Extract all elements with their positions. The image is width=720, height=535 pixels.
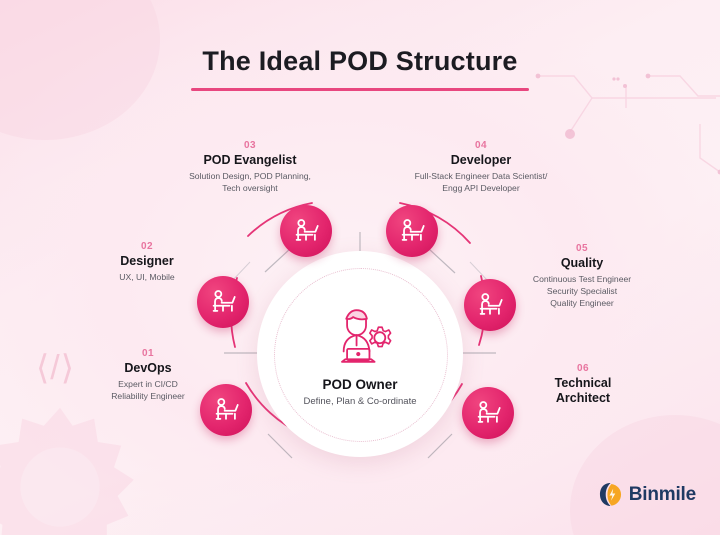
role-name-06: Technical Architect <box>508 376 658 406</box>
role-name-02: Designer <box>76 254 218 269</box>
role-number-05: 05 <box>504 243 660 254</box>
brand-name: Binmile <box>629 484 696 506</box>
role-name-04: Developer <box>378 153 584 168</box>
role-name-01: DevOps <box>76 361 220 376</box>
person-at-desk-icon <box>475 290 505 320</box>
person-with-laptop-and-gear-icon <box>323 301 397 371</box>
role-number-02: 02 <box>76 241 218 252</box>
role-desc-04: Full-Stack Engineer Data Scientist/ Engg… <box>378 171 584 195</box>
pod-owner-subtitle: Define, Plan & Co-ordinate <box>303 396 416 407</box>
role-number-01: 01 <box>76 348 220 359</box>
role-desc-01: Expert in CI/CD Reliability Engineer <box>76 379 220 403</box>
brand-logo[interactable]: Binmile <box>599 482 696 507</box>
pod-owner-node[interactable]: POD Owner Define, Plan & Co-ordinate <box>257 251 463 457</box>
role-label-03: 03 POD Evangelist Solution Design, POD P… <box>160 140 340 195</box>
person-at-desk-icon <box>397 216 427 246</box>
role-desc-05: Continuous Test Engineer Security Specia… <box>504 274 660 310</box>
role-number-04: 04 <box>378 140 584 151</box>
role-number-06: 06 <box>508 363 658 374</box>
role-label-05: 05 Quality Continuous Test Engineer Secu… <box>504 243 660 310</box>
role-desc-02: UX, UI, Mobile <box>76 272 218 284</box>
role-name-05: Quality <box>504 256 660 271</box>
person-at-desk-icon <box>473 398 503 428</box>
role-node-03[interactable] <box>280 205 332 257</box>
role-node-06[interactable] <box>462 387 514 439</box>
role-label-06: 06 Technical Architect <box>508 363 658 406</box>
role-desc-03: Solution Design, POD Planning, Tech over… <box>160 171 340 195</box>
person-at-desk-icon <box>208 287 238 317</box>
role-label-01: 01 DevOps Expert in CI/CD Reliability En… <box>76 348 220 403</box>
binmile-shield-icon <box>599 482 622 507</box>
infographic-canvas: ⟨/⟩ The Ideal POD Structu <box>0 0 720 535</box>
role-label-04: 04 Developer Full-Stack Engineer Data Sc… <box>378 140 584 195</box>
role-label-02: 02 Designer UX, UI, Mobile <box>76 241 218 284</box>
role-node-04[interactable] <box>386 205 438 257</box>
person-at-desk-icon <box>291 216 321 246</box>
pod-owner-title: POD Owner <box>322 377 397 392</box>
role-number-03: 03 <box>160 140 340 151</box>
role-name-03: POD Evangelist <box>160 153 340 168</box>
